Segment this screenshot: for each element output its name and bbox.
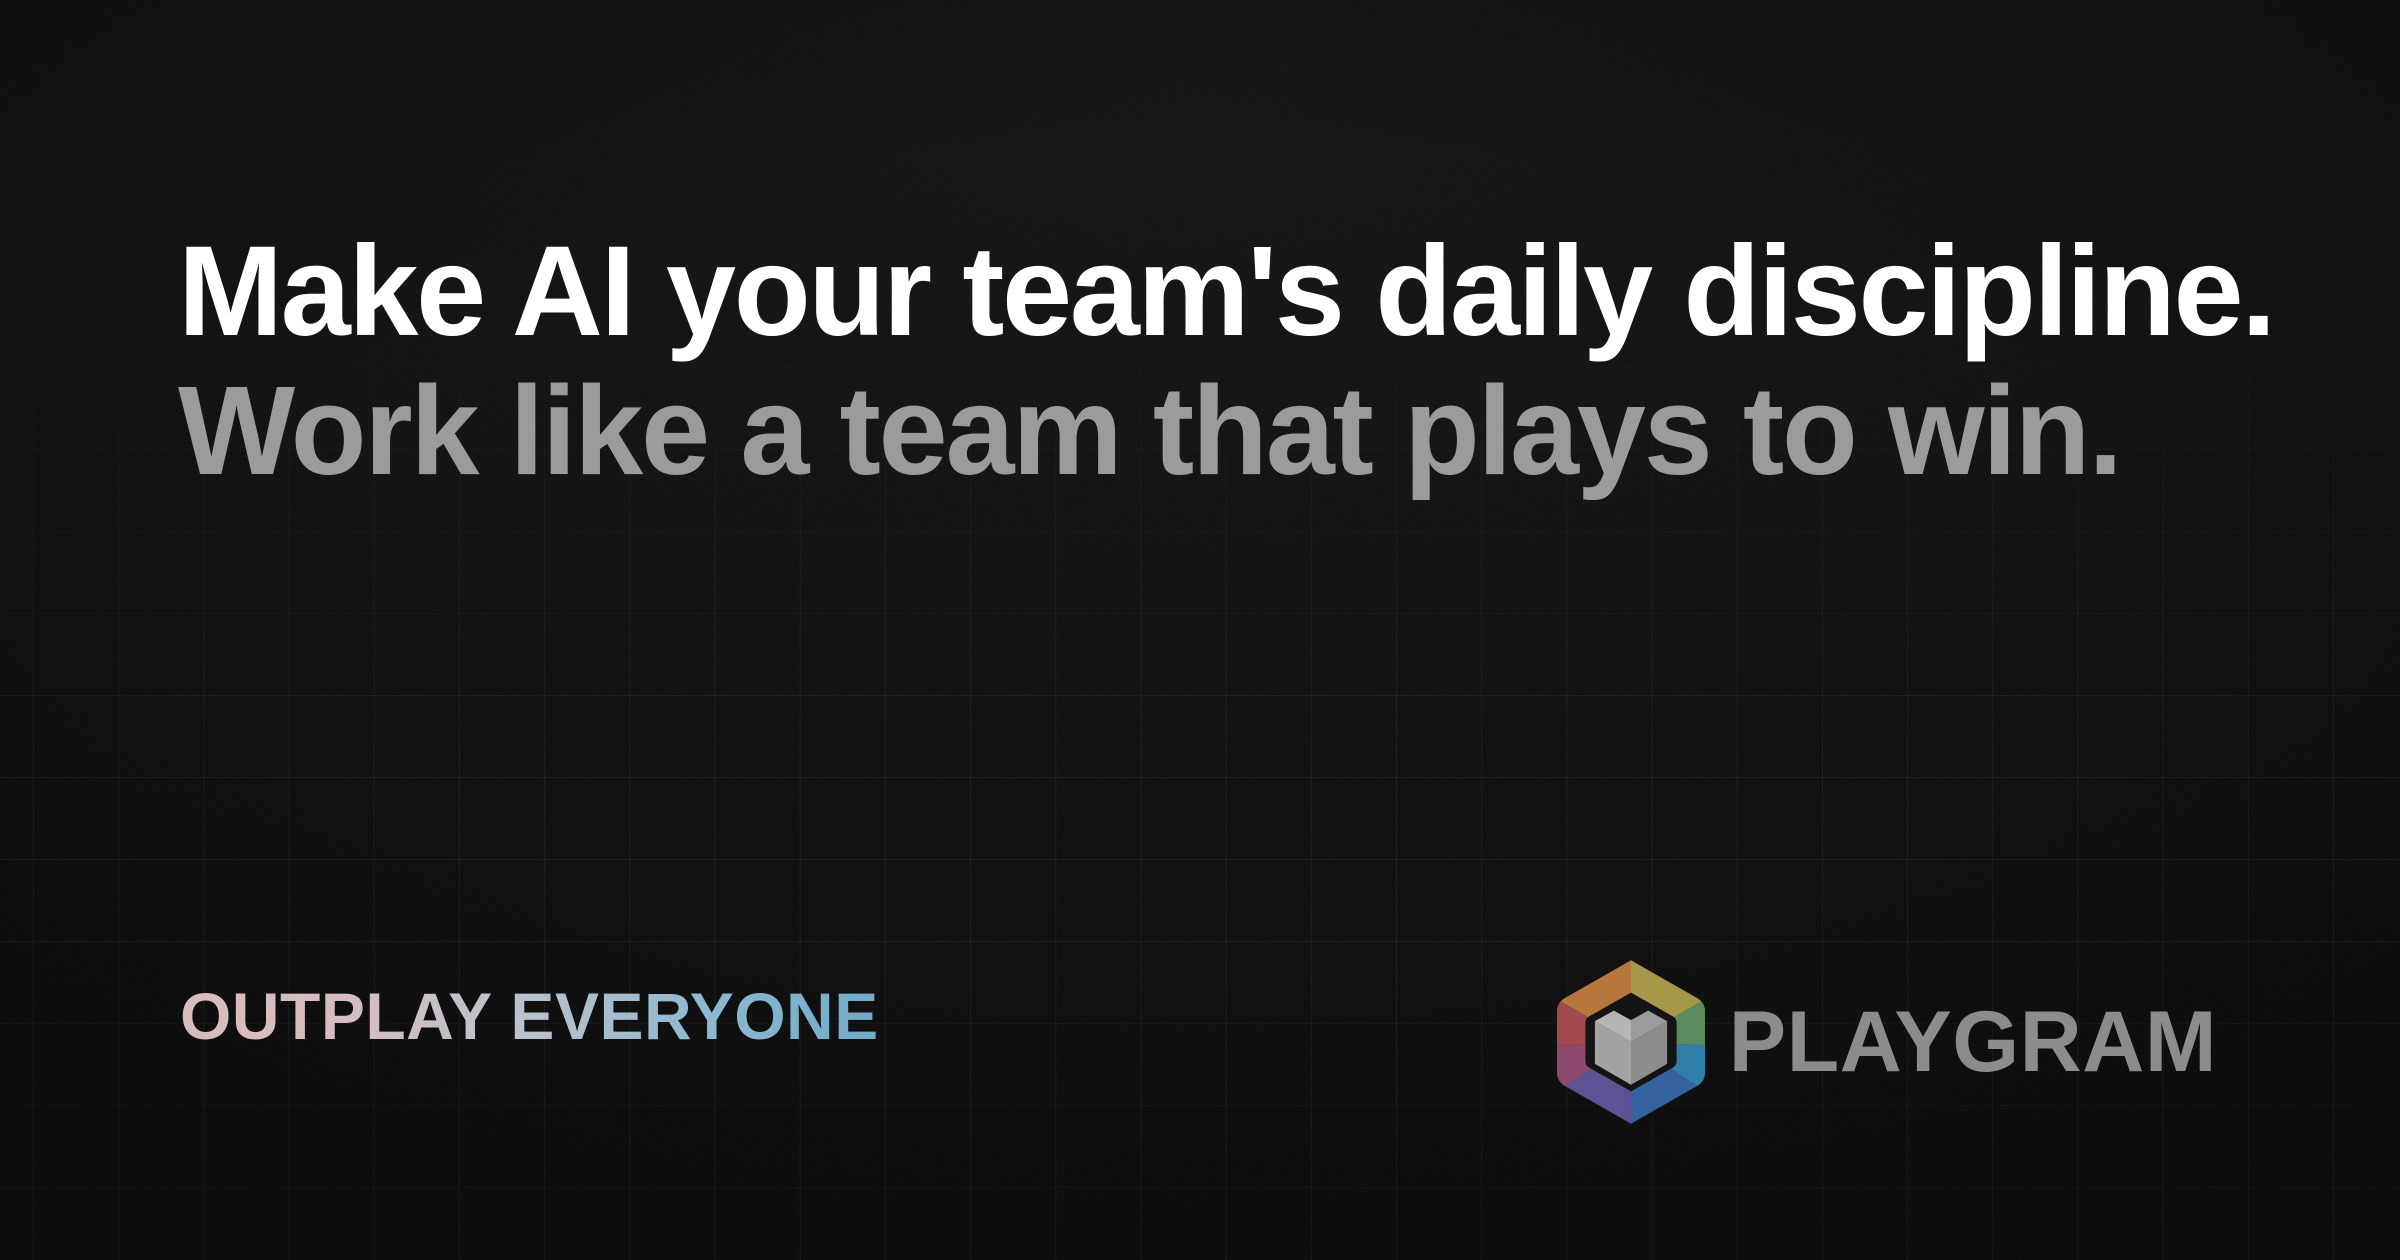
brand-lockup: PLAYGRAM [1555,958,2217,1126]
poster-canvas: Make AI your team's daily discipline. Wo… [0,0,2400,1260]
tagline: OUTPLAY EVERYONE [180,980,879,1052]
headline-line-secondary: Work like a team that plays to win. [178,361,2207,500]
headline-line-primary: Make AI your team's daily discipline. [178,222,2207,361]
hexagon-cube-logo-icon [1555,958,1707,1126]
footer-bar: OUTPLAY EVERYONE [0,980,2400,1140]
headline-block: Make AI your team's daily discipline. Wo… [178,222,2238,500]
brand-name: PLAYGRAM [1729,997,2217,1087]
